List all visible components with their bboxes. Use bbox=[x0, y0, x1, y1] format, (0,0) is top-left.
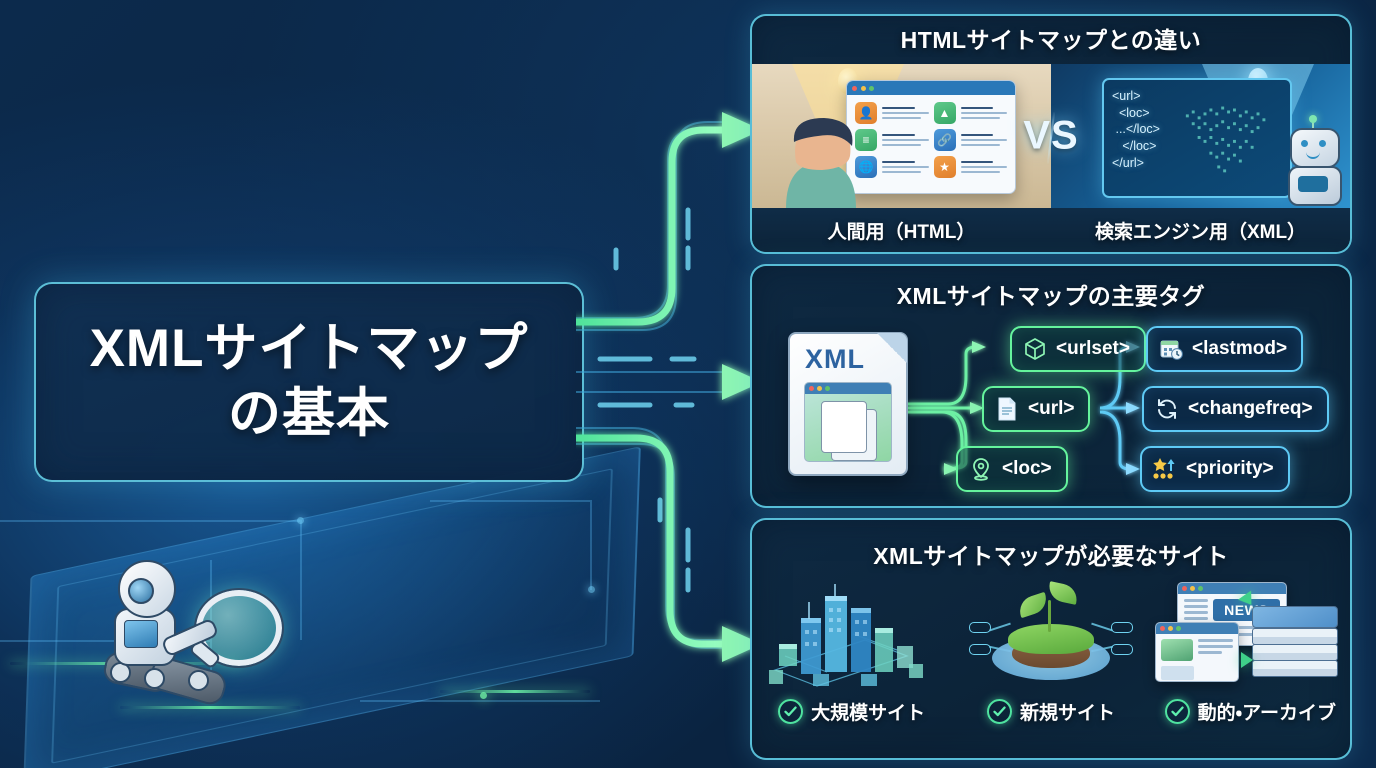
arrow-icon-bottom bbox=[1241, 652, 1253, 668]
city-icon bbox=[752, 578, 951, 692]
tag-chip-urlset-label: <urlset> bbox=[1056, 338, 1130, 360]
human-side: 👤 ▲ ≡ 🔗 🌐 ★ bbox=[752, 64, 1051, 208]
tag-chip-loc-label: <loc> bbox=[1002, 458, 1052, 480]
star-icon: ★ bbox=[934, 156, 956, 178]
search-engine-side: <url> <loc> ...</loc> </loc> </url> bbox=[1051, 64, 1350, 208]
tag-chip-loc[interactable]: <loc> bbox=[956, 446, 1068, 492]
refresh-icon bbox=[1154, 396, 1180, 422]
caption-search-engine: 検索エンジン用（XML） bbox=[1051, 208, 1350, 252]
caption-human: 人間用（HTML） bbox=[752, 208, 1051, 252]
flow-connectors bbox=[576, 0, 766, 768]
tag-chip-url[interactable]: <url> bbox=[982, 386, 1090, 432]
map-pin-icon bbox=[968, 456, 994, 482]
tag-chip-priority[interactable]: <priority> bbox=[1140, 446, 1290, 492]
panel-1-comparison: 👤 ▲ ≡ 🔗 🌐 ★ bbox=[752, 64, 1350, 208]
xml-file-label: XML bbox=[790, 344, 880, 375]
title-line-1: XMLサイトマップ bbox=[90, 317, 529, 382]
title-line-2: の基本 bbox=[228, 382, 390, 447]
list-item-large-site[interactable]: 大規模サイト bbox=[752, 578, 951, 758]
news-archive-icon: NEWS bbox=[1151, 578, 1350, 692]
site-label-large: 大規模サイト bbox=[778, 698, 925, 725]
title-card: XMLサイトマップ の基本 bbox=[34, 282, 584, 482]
list-item-new-site[interactable]: 新規サイト bbox=[951, 578, 1150, 758]
world-map-icon bbox=[1178, 90, 1286, 182]
link-icon: 🔗 bbox=[934, 129, 956, 151]
site-label-new-text: 新規サイト bbox=[1020, 698, 1115, 725]
panel-html-vs-xml[interactable]: HTMLサイトマップとの違い 👤 ▲ ≡ 🔗 🌐 ★ bbox=[750, 14, 1352, 254]
calendar-clock-icon bbox=[1158, 336, 1184, 362]
archive-stack-icon bbox=[1252, 606, 1336, 682]
tag-diagram: XML <urlset> bbox=[752, 320, 1350, 496]
panel-1-captions: 人間用（HTML） 検索エンジン用（XML） bbox=[752, 208, 1350, 252]
tag-chip-urlset[interactable]: <urlset> bbox=[1010, 326, 1146, 372]
site-label-dynamic-text: 動的・アーカイブ bbox=[1198, 698, 1336, 725]
tag-chip-lastmod-label: <lastmod> bbox=[1192, 338, 1287, 360]
xml-code-screen: <url> <loc> ...</loc> </loc> </url> bbox=[1102, 78, 1292, 198]
star-arrow-icon bbox=[1152, 456, 1178, 482]
infographic-canvas: XMLサイトマップ の基本 bbox=[0, 0, 1376, 768]
tag-chip-url-label: <url> bbox=[1028, 398, 1074, 420]
panel-sites-needing-sitemap[interactable]: XMLサイトマップが必要なサイト bbox=[750, 518, 1352, 760]
check-icon bbox=[778, 699, 803, 724]
panel-main-tags[interactable]: XMLサイトマップの主要タグ bbox=[750, 264, 1352, 508]
document-icon bbox=[994, 396, 1020, 422]
sprout-island-icon bbox=[951, 578, 1150, 692]
tag-chip-lastmod[interactable]: <lastmod> bbox=[1146, 326, 1303, 372]
site-type-list: 大規模サイト bbox=[752, 578, 1350, 758]
robot-with-magnifier-icon bbox=[92, 560, 262, 700]
check-icon bbox=[987, 699, 1012, 724]
tag-chip-priority-label: <priority> bbox=[1186, 458, 1274, 480]
list-item-dynamic-archive[interactable]: NEWS bbox=[1151, 578, 1350, 758]
tag-chip-changefreq[interactable]: <changefreq> bbox=[1142, 386, 1329, 432]
article-window bbox=[1155, 622, 1239, 682]
site-label-dynamic: 動的・アーカイブ bbox=[1165, 698, 1336, 725]
vs-badge: VS bbox=[1023, 114, 1078, 159]
check-icon bbox=[1165, 699, 1190, 724]
panel-1-title: HTMLサイトマップとの違い bbox=[752, 16, 1350, 64]
site-label-new: 新規サイト bbox=[987, 698, 1115, 725]
panel-2-title: XMLサイトマップの主要タグ bbox=[752, 272, 1350, 320]
site-label-large-text: 大規模サイト bbox=[811, 698, 925, 725]
person-illustration bbox=[766, 112, 876, 208]
xml-file-icon: XML bbox=[788, 332, 908, 476]
robot-illustration bbox=[1282, 120, 1344, 206]
image-icon: ▲ bbox=[934, 102, 956, 124]
package-icon bbox=[1022, 336, 1048, 362]
tag-chip-changefreq-label: <changefreq> bbox=[1188, 398, 1313, 420]
panel-3-title: XMLサイトマップが必要なサイト bbox=[752, 532, 1350, 580]
